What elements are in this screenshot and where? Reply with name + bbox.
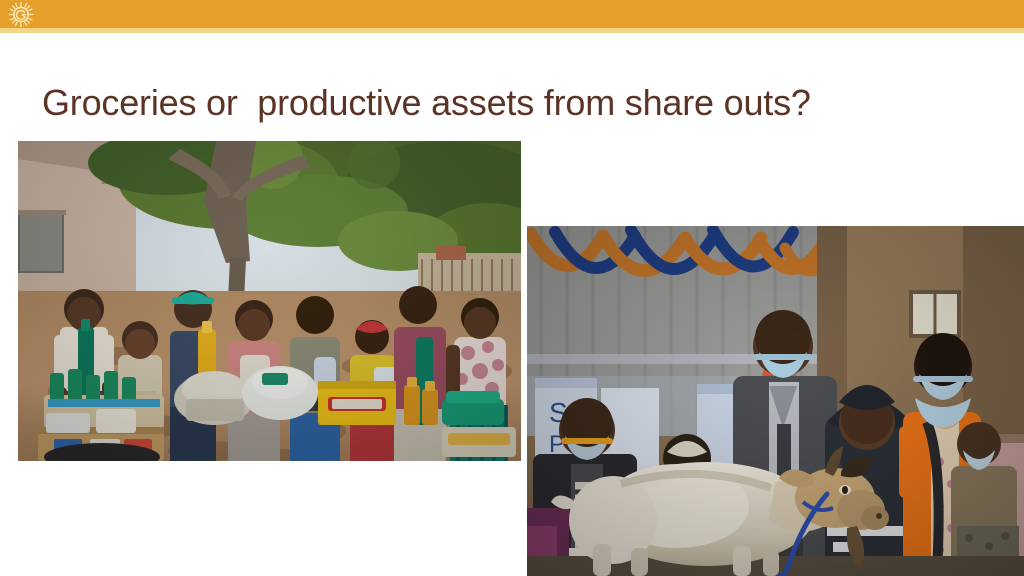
sun-swirl-logo-icon bbox=[6, 1, 36, 28]
productive-asset-goat-photo[interactable]: S P bbox=[527, 226, 1024, 576]
top-banner bbox=[0, 0, 1024, 28]
groceries-share-out-photo[interactable] bbox=[18, 141, 521, 461]
banner-underline bbox=[0, 28, 1024, 33]
page-title: Groceries or productive assets from shar… bbox=[42, 82, 982, 123]
